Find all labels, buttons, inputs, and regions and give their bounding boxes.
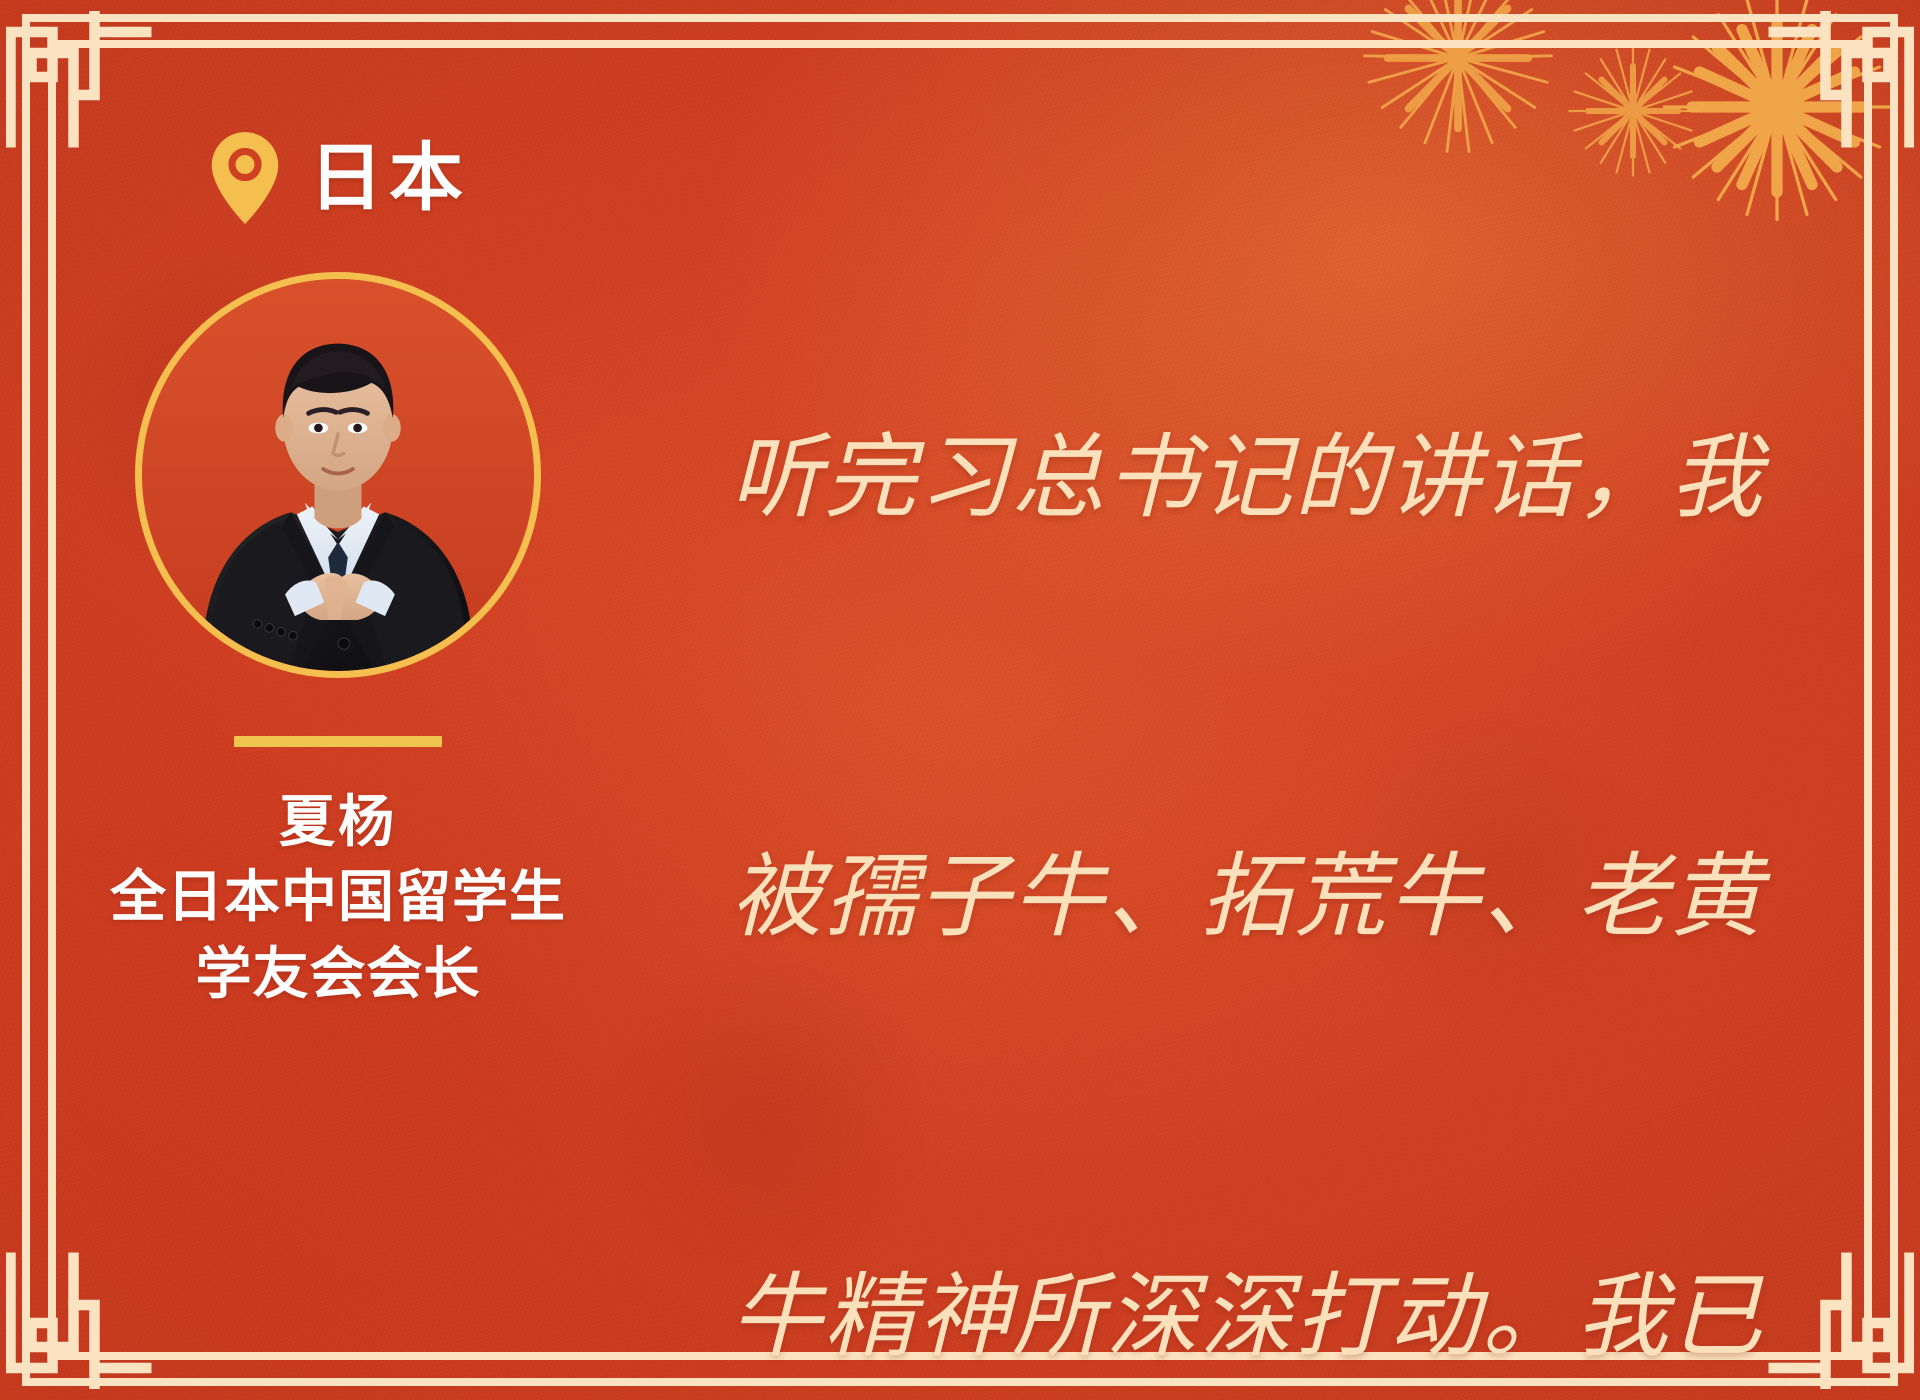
quote-text: 听完习总书记的讲话，我 被孺子牛、拓荒牛、老黄 牛精神所深深打动。我已 迫不及待… (730, 128, 1840, 1400)
quote-line: 牛精神所深深打动。我已 (730, 1247, 1840, 1387)
profile-panel: 日本 (78, 130, 598, 1010)
person-title-line-2: 学友会会长 (78, 939, 598, 1010)
gold-divider (234, 736, 442, 747)
avatar-portrait (142, 279, 534, 671)
location-label: 日本 (309, 141, 469, 215)
quote-line: 听完习总书记的讲话，我 (730, 408, 1840, 548)
person-title-line-1: 全日本中国留学生 (78, 862, 598, 933)
person-name: 夏杨 (78, 787, 598, 856)
map-pin-icon (207, 130, 283, 226)
location-row: 日本 (78, 130, 598, 226)
poster-canvas: 日本 (0, 0, 1920, 1400)
avatar (135, 272, 541, 678)
quote-line: 被孺子牛、拓荒牛、老黄 (730, 827, 1840, 967)
